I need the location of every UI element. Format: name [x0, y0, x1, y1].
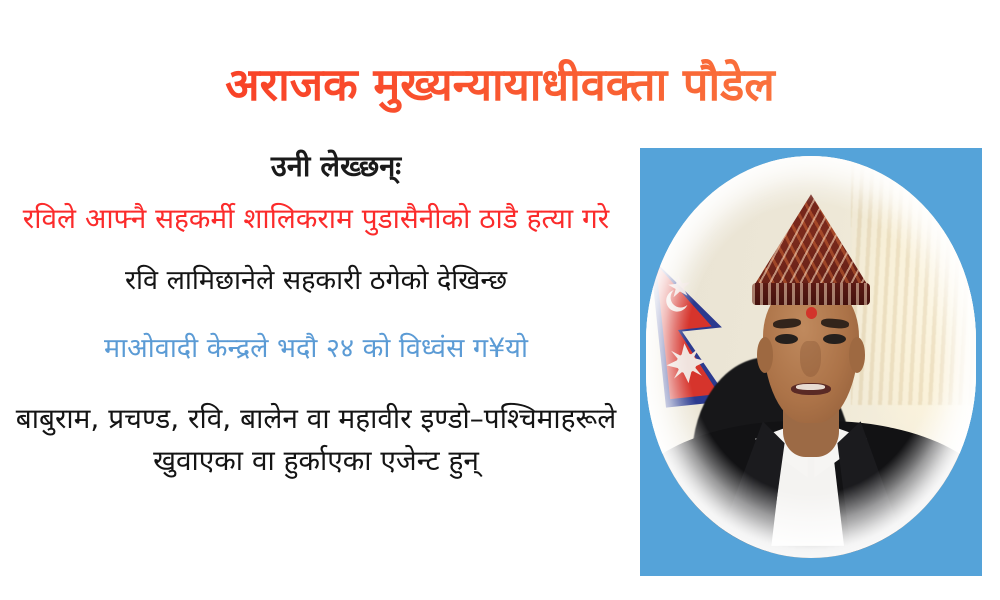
nose — [800, 341, 820, 377]
portrait-stage — [640, 148, 982, 576]
quote-line-black-2: बाबुराम, प्रचण्ड, रवि, बालेन वा महावीर इ… — [0, 398, 632, 482]
tika-mark — [806, 307, 817, 319]
poster-canvas: अराजक मुख्यन्यायाधीवक्ता पौडेल उनी लेख्छ… — [0, 0, 1000, 600]
quote-line-red: रविले आफ्नै सहकर्मी शालिकराम पुडासैनीको … — [0, 200, 632, 238]
eye-left — [775, 334, 798, 344]
text-column: उनी लेख्छन्ः रविले आफ्नै सहकर्मी शालिकरा… — [0, 146, 632, 482]
portrait-subject — [646, 156, 976, 558]
portrait-panel — [640, 148, 982, 576]
teeth — [796, 384, 824, 390]
quote-line-blue: माओवादी केन्द्रले भदौ २४ को विध्वंस ग¥यो — [0, 330, 632, 368]
eye-right — [823, 334, 846, 344]
dhaka-topi-band — [752, 283, 871, 305]
quote-line-black-1: रवि लामिछानेले सहकारी ठगेको देखिन्छ — [0, 262, 632, 300]
intro-line: उनी लेख्छन्ः — [0, 146, 632, 186]
portrait-oval-mask — [646, 156, 976, 558]
ear-right — [849, 337, 866, 373]
page-title: अराजक मुख्यन्यायाधीवक्ता पौडेल — [0, 56, 1000, 114]
ear-left — [757, 337, 774, 373]
